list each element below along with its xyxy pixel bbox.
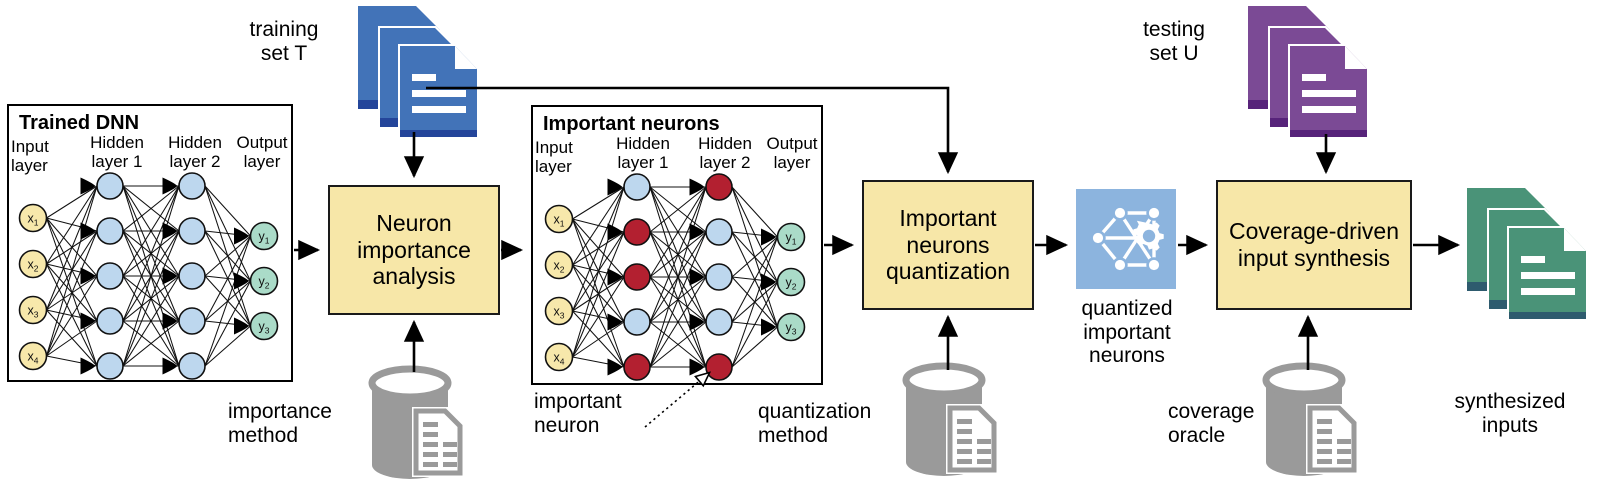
connector-arrows xyxy=(0,0,1604,488)
